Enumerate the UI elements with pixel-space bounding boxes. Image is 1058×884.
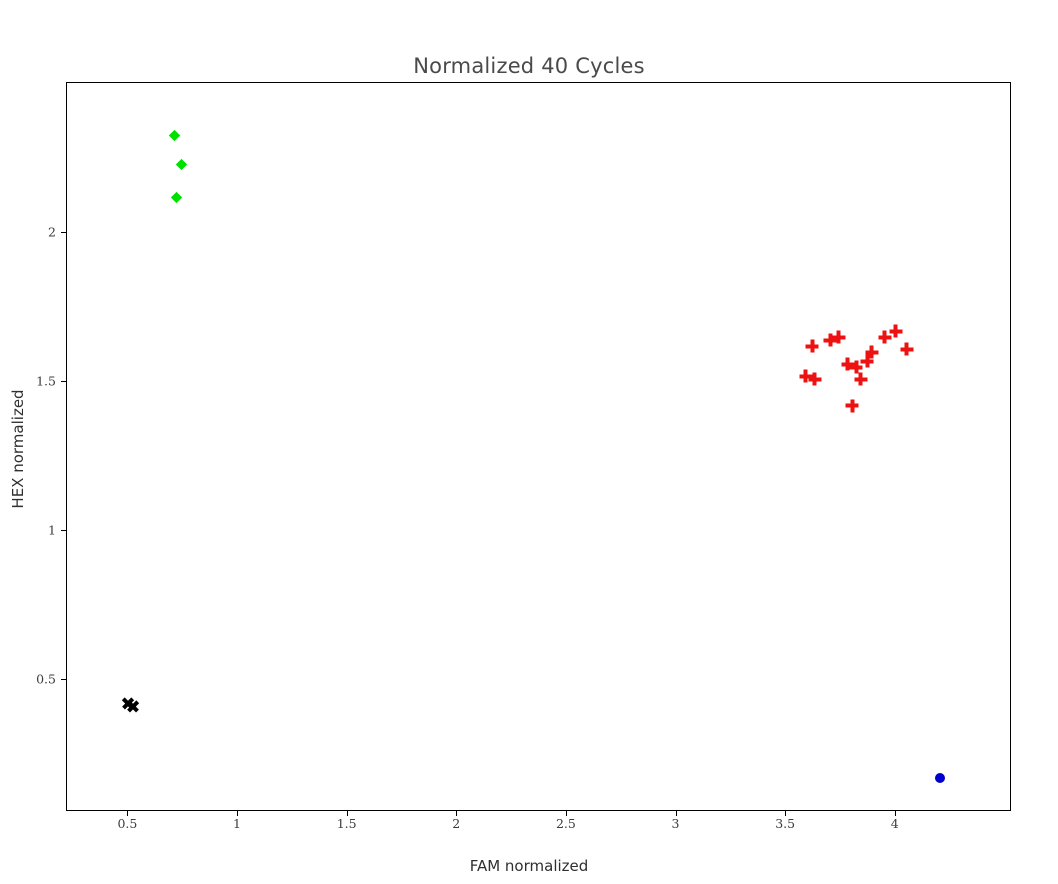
data-point-red-cluster bbox=[845, 399, 858, 412]
y-tick-mark bbox=[61, 530, 66, 531]
x-tick-label: 3.5 bbox=[775, 816, 795, 831]
y-tick-mark bbox=[61, 679, 66, 680]
plus-marker-icon bbox=[894, 325, 898, 338]
x-tick-label: 2.5 bbox=[556, 816, 576, 831]
plot-frame bbox=[66, 82, 1011, 811]
x-tick-label: 1 bbox=[233, 816, 241, 831]
plus-marker-icon bbox=[850, 399, 854, 412]
data-point-blue-point bbox=[935, 773, 945, 783]
plus-marker-icon bbox=[870, 346, 874, 359]
x-tick-label: 2 bbox=[452, 816, 460, 831]
chart-canvas: Normalized 40 Cycles FAM normalized HEX … bbox=[0, 0, 1058, 884]
data-point-red-cluster bbox=[900, 343, 913, 356]
data-point-red-cluster bbox=[854, 373, 867, 386]
y-tick-label: 1.5 bbox=[4, 374, 56, 389]
x-tick-label: 0.5 bbox=[117, 816, 137, 831]
plus-marker-icon bbox=[811, 340, 815, 353]
data-point-red-cluster bbox=[832, 331, 845, 344]
y-tick-label: 2 bbox=[4, 225, 56, 240]
y-tick-mark bbox=[61, 381, 66, 382]
plus-marker-icon bbox=[905, 343, 909, 356]
x-tick-label: 1.5 bbox=[337, 816, 357, 831]
y-tick-label: 1 bbox=[4, 522, 56, 537]
data-point-red-cluster bbox=[865, 346, 878, 359]
data-point-green-cluster bbox=[169, 130, 180, 141]
diamond-marker-icon bbox=[175, 159, 186, 170]
y-tick-label: 0.5 bbox=[4, 671, 56, 686]
plus-marker-icon bbox=[859, 373, 863, 386]
data-point-black-cluster bbox=[126, 700, 139, 713]
data-point-green-cluster bbox=[176, 159, 187, 170]
plus-marker-icon bbox=[813, 373, 817, 386]
data-point-red-cluster bbox=[808, 373, 821, 386]
x-tick-label: 4 bbox=[891, 816, 899, 831]
diamond-marker-icon bbox=[171, 192, 182, 203]
data-point-red-cluster bbox=[806, 340, 819, 353]
x-tick-label: 3 bbox=[672, 816, 680, 831]
plus-marker-icon bbox=[837, 331, 841, 344]
y-tick-mark bbox=[61, 232, 66, 233]
plot-data-area bbox=[67, 83, 1010, 810]
plus-marker-icon bbox=[883, 331, 887, 344]
diamond-marker-icon bbox=[169, 129, 180, 140]
data-point-red-cluster bbox=[889, 325, 902, 338]
chart-title: Normalized 40 Cycles bbox=[0, 54, 1058, 78]
data-point-green-cluster bbox=[171, 192, 182, 203]
x-axis-label: FAM normalized bbox=[0, 857, 1058, 875]
